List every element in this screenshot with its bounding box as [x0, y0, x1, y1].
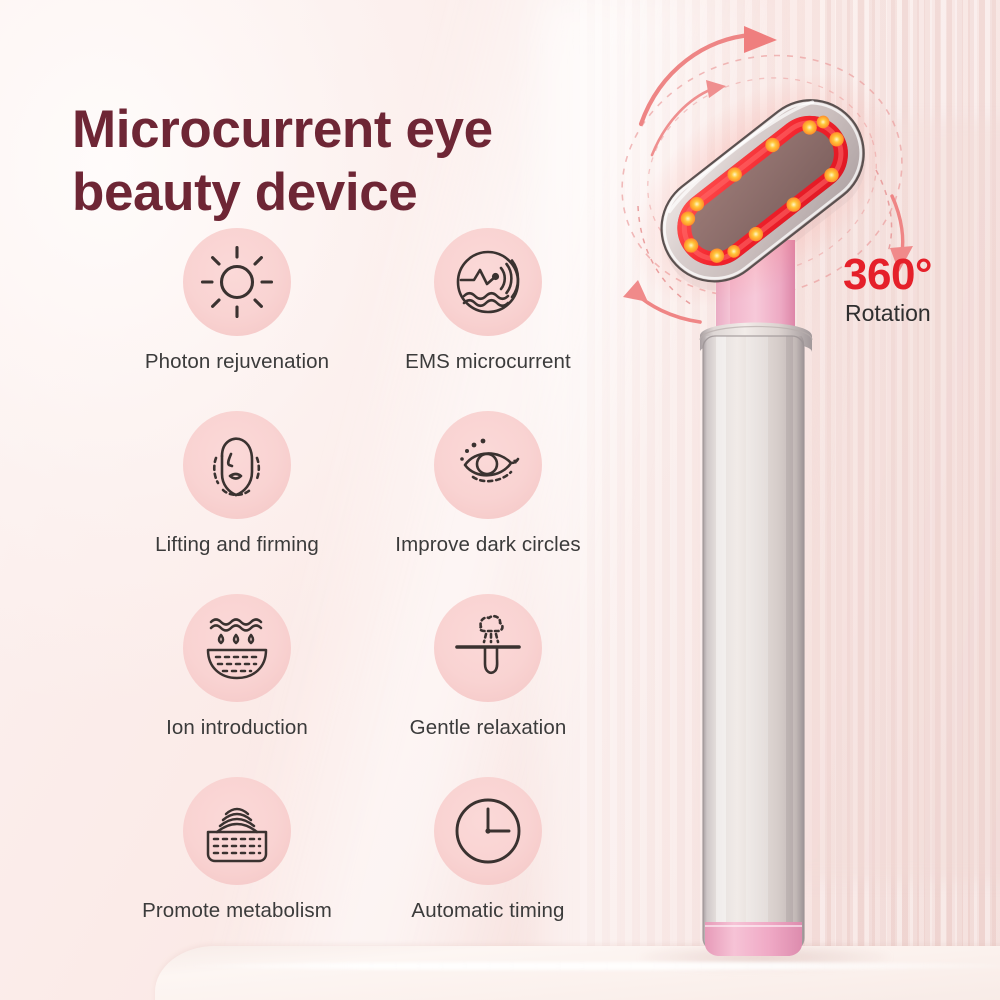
face-lifting-icon — [183, 411, 291, 519]
feature-item-ems-microcurrent[interactable]: EMS microcurrent — [363, 228, 613, 374]
feature-row: Lifting and firming — [60, 411, 580, 594]
feature-item-promote-metabolism[interactable]: Promote metabolism — [112, 777, 362, 923]
feature-row: Promote metabolism Automatic timing — [60, 777, 580, 960]
page-title: Microcurrent eye beauty device — [72, 98, 632, 224]
feature-label: Improve dark circles — [363, 533, 613, 557]
rotation-guide-dashed-left — [638, 206, 694, 306]
feature-label: Gentle relaxation — [363, 716, 613, 740]
feature-label: EMS microcurrent — [363, 350, 613, 374]
rotation-text-label: Rotation — [845, 300, 931, 326]
sun-icon — [183, 228, 291, 336]
rotation-arrow-inner-top — [652, 80, 726, 155]
rotation-guide-dashed-right — [876, 170, 892, 252]
eye-icon — [434, 411, 542, 519]
feature-row: Photon rejuvenation EMS microcurr — [60, 228, 580, 411]
feature-item-gentle-relaxation[interactable]: Gentle relaxation — [363, 594, 613, 740]
background-panel-right — [710, 120, 1000, 880]
feature-label: Lifting and firming — [112, 533, 362, 557]
rotation-degrees-label: 360° — [843, 252, 932, 298]
clock-icon — [434, 777, 542, 885]
feature-item-photon-rejuvenation[interactable]: Photon rejuvenation — [112, 228, 362, 374]
led-dots — [663, 102, 862, 280]
device-handle — [700, 240, 812, 956]
feature-item-ion-introduction[interactable]: Ion introduction — [112, 594, 362, 740]
waveform-signal-icon — [434, 228, 542, 336]
water-droplets-skin-icon — [183, 594, 291, 702]
feature-label: Ion introduction — [112, 716, 362, 740]
product-feature-poster: Microcurrent eye beauty device — [0, 0, 1000, 1000]
device-contact-shadow — [640, 944, 890, 970]
feature-row: Ion introduction Gentle relaxation — [60, 594, 580, 777]
rotation-arrow-bottom-left — [623, 280, 700, 322]
feature-item-improve-dark-circles[interactable]: Improve dark circles — [363, 411, 613, 557]
table-edge-highlight — [168, 962, 1000, 970]
background-stripes — [580, 0, 1000, 1000]
pore-steam-icon — [434, 594, 542, 702]
feature-list: Photon rejuvenation EMS microcurr — [60, 228, 580, 960]
skin-layers-waves-icon — [183, 777, 291, 885]
feature-label: Photon rejuvenation — [112, 350, 362, 374]
feature-item-lifting-and-firming[interactable]: Lifting and firming — [112, 411, 362, 557]
feature-label: Automatic timing — [363, 899, 613, 923]
feature-label: Promote metabolism — [112, 899, 362, 923]
rotation-arrow-top — [641, 26, 777, 124]
background-stripes-edge — [820, 0, 1000, 1000]
feature-item-automatic-timing[interactable]: Automatic timing — [363, 777, 613, 923]
